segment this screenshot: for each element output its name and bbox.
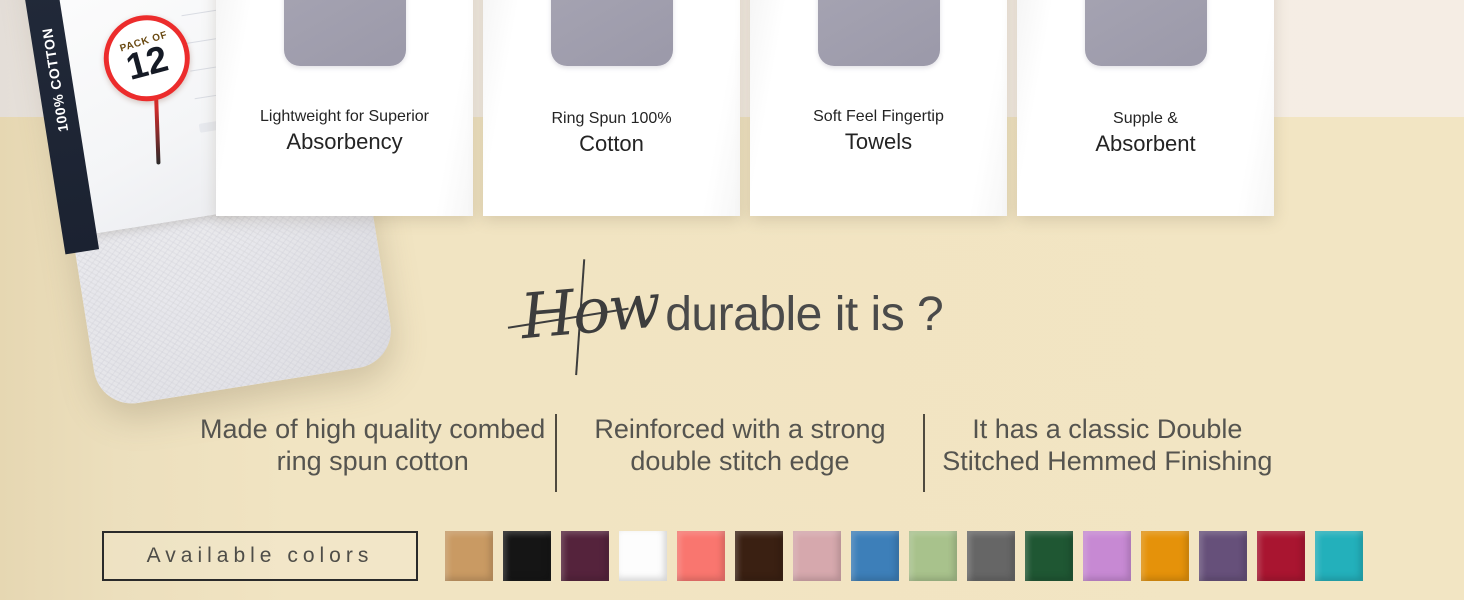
soft-fibers-icon: [837, 0, 921, 13]
color-swatch-orchid[interactable]: [1083, 531, 1131, 581]
feature-card-supple[interactable]: Supple & Absorbent: [1017, 0, 1274, 216]
color-swatch-coral[interactable]: [677, 531, 725, 581]
cotton-boll-icon: [570, 0, 654, 13]
card-line-2: Towels: [813, 129, 944, 154]
color-swatch-plum-purple[interactable]: [1199, 531, 1247, 581]
card-line-2: Cotton: [551, 131, 671, 156]
card-line-1: Supple &: [1095, 110, 1195, 128]
available-colors-section: Available colors: [102, 531, 1363, 581]
feather-icon: [303, 0, 387, 13]
color-swatch-list: [445, 531, 1363, 581]
heading-script-word: How: [518, 268, 668, 353]
color-swatch-teal[interactable]: [1315, 531, 1363, 581]
card-text: Ring Spun 100% Cotton: [551, 110, 671, 156]
card-line-1: Soft Feel Fingertip: [813, 108, 944, 126]
color-swatch-dark-brown[interactable]: [735, 531, 783, 581]
color-swatch-crimson[interactable]: [1257, 531, 1305, 581]
feature-card-row: Lightweight for Superior Absorbency Ring…: [216, 0, 1276, 216]
color-swatch-black[interactable]: [503, 531, 551, 581]
feature-card-towels[interactable]: Soft Feel Fingertip Towels: [750, 0, 1007, 216]
card-text: Soft Feel Fingertip Towels: [813, 108, 944, 154]
card-text: Lightweight for Superior Absorbency: [260, 108, 429, 154]
color-swatch-blue[interactable]: [851, 531, 899, 581]
card-line-2: Absorbency: [260, 129, 429, 154]
feature-card-cotton[interactable]: Ring Spun 100% Cotton: [483, 0, 740, 216]
color-swatch-white[interactable]: [619, 531, 667, 581]
iron-icon: [1104, 0, 1188, 13]
feature-card-absorbency[interactable]: Lightweight for Superior Absorbency: [216, 0, 473, 216]
heading-rest-text: durable it is ?: [665, 287, 943, 342]
icon-tile: [818, 0, 940, 66]
icon-tile: [1085, 0, 1207, 66]
color-swatch-forest-green[interactable]: [1025, 531, 1073, 581]
durability-heading: How durable it is ?: [0, 278, 1464, 351]
durability-feature-row: Made of high quality combed ring spun co…: [190, 414, 1290, 492]
color-swatch-sage-green[interactable]: [909, 531, 957, 581]
durability-feature-1: Made of high quality combed ring spun co…: [190, 414, 555, 478]
card-line-1: Lightweight for Superior: [260, 108, 429, 126]
color-swatch-gray[interactable]: [967, 531, 1015, 581]
durability-feature-2: Reinforced with a strong double stitch e…: [557, 414, 922, 478]
card-text: Supple & Absorbent: [1095, 110, 1195, 156]
color-swatch-dark-plum[interactable]: [561, 531, 609, 581]
color-swatch-orange[interactable]: [1141, 531, 1189, 581]
icon-tile: [284, 0, 406, 66]
durability-feature-3: It has a classic Double Stitched Hemmed …: [925, 414, 1290, 478]
color-swatch-dusty-rose[interactable]: [793, 531, 841, 581]
available-colors-label: Available colors: [102, 531, 418, 581]
color-swatch-camel[interactable]: [445, 531, 493, 581]
card-line-2: Absorbent: [1095, 131, 1195, 156]
icon-tile: [551, 0, 673, 66]
card-line-1: Ring Spun 100%: [551, 110, 671, 128]
